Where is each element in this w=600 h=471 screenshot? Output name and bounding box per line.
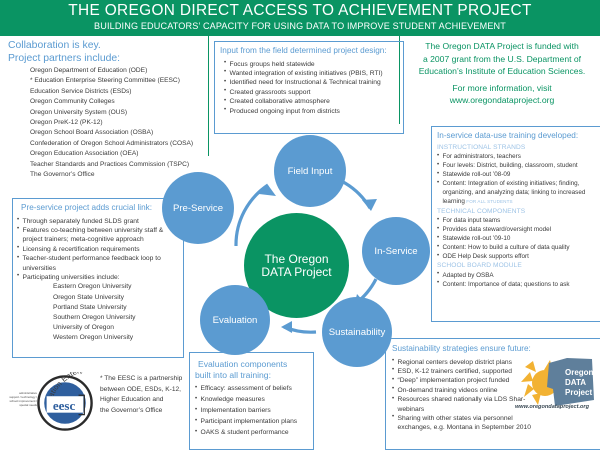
pre-service-heading: Pre-service project adds crucial link:: [21, 203, 183, 214]
in-service-strand-list: For data input teamsProvides data stewar…: [437, 216, 600, 261]
pre-service-item: Participating universities include:: [17, 273, 183, 282]
in-service-item: Statewide roll-out ’09-10: [437, 234, 600, 243]
field-input-item: Focus groups held statewide: [224, 60, 403, 69]
funding-line2: a 2007 grant from the U.S. Department of: [404, 53, 600, 66]
sustainability-list: Regional centers develop district plansE…: [392, 358, 532, 433]
evaluation-item: Implementation barriers: [195, 405, 313, 416]
sustainability-item: “Deep” implementation project funded: [392, 376, 532, 385]
partner-list-item: Teacher Standards and Practices Commissi…: [30, 160, 193, 170]
odp-logo-line1: Oregon: [565, 368, 594, 377]
evaluation-item: OAKS & student performance: [195, 427, 313, 438]
in-service-item: Provides data steward/oversight model: [437, 225, 600, 234]
evaluation-item: Efficacy: assessment of beliefs: [195, 383, 313, 394]
partner-list-item: The Governor’s Office: [30, 170, 193, 180]
collaboration-heading-line1: Collaboration is key.: [8, 40, 120, 53]
field-input-item: Identified need for Instructional & Tech…: [224, 78, 403, 87]
cycle-node-sustainability-label: Sustainability: [329, 326, 386, 339]
evaluation-heading-line2: built into all training:: [195, 370, 313, 381]
partner-list-item: Education Service Districts (ESDs): [30, 87, 193, 97]
evaluation-item: Knowledge measures: [195, 394, 313, 405]
funding-line3: Education’s Institute of Education Scien…: [404, 65, 600, 78]
in-service-item: For administrators, teachers: [437, 152, 600, 161]
partner-list: Oregon Department of Education (ODE)* Ed…: [30, 66, 193, 180]
funding-line1: The Oregon DATA Project is funded with: [404, 40, 600, 53]
partner-list-item: Oregon Education Association (OEA): [30, 149, 193, 159]
in-service-item: ODE Help Desk supports effort: [437, 252, 600, 261]
in-service-item: Content: How to build a culture of data …: [437, 243, 600, 252]
cycle-node-pre-service-label: Pre-Service: [173, 202, 223, 215]
partner-list-item: Oregon Department of Education (ODE): [30, 66, 193, 76]
sustainability-item: On-demand training videos online: [392, 386, 532, 395]
evaluation-list: Efficacy: assessment of beliefsKnowledge…: [195, 383, 313, 438]
in-service-item: Content: Integration of existing initiat…: [437, 179, 600, 207]
eesc-note: * The EESC is a partnership between ODE,…: [100, 374, 205, 416]
in-service-strand-label: INSTRUCTIONAL STRANDS: [437, 143, 600, 153]
odp-logo-line2: DATA: [565, 378, 586, 387]
eesc-note-line2: between ODE, ESDs, K-12,: [100, 385, 205, 396]
pre-service-item: Through separately funded SLDS grant: [17, 217, 183, 226]
cycle-center-line1: The Oregon: [261, 253, 331, 266]
sustainability-item: Sharing with other states via personnel …: [392, 414, 532, 433]
field-input-item: Created collaborative atmosphere: [224, 97, 403, 106]
in-service-item: Statewide roll-out ’08-09: [437, 170, 600, 179]
pre-service-university-item: University of Oregon: [53, 323, 183, 333]
eesc-note-line1: * The EESC is a partnership: [100, 374, 205, 385]
partner-list-item: Oregon University System (OUS): [30, 108, 193, 118]
field-input-list: Focus groups held statewideWanted integr…: [224, 60, 403, 116]
pre-service-box: Pre-service project adds crucial link: T…: [12, 198, 184, 358]
eesc-note-line4: the Governor’s Office: [100, 406, 205, 417]
in-service-strand-list: Adapted by OSBAContent: Importance of da…: [437, 271, 600, 289]
sustainability-item: ESD, K-12 trainers certified, supported: [392, 367, 532, 376]
eesc-note-line3: Higher Education and: [100, 395, 205, 406]
pre-service-university-item: Southern Oregon University: [53, 313, 183, 323]
eesc-logo: eesc: [36, 374, 94, 432]
eesc-acronym: eesc: [53, 398, 76, 413]
odp-logo-line3: Project: [565, 388, 592, 397]
field-input-heading: Input from the field determined project …: [220, 46, 403, 57]
pre-service-university-list: Eastern Oregon UniversityOregon State Un…: [53, 282, 183, 343]
cycle-node-evaluation-label: Evaluation: [213, 314, 258, 327]
funding-line4: For more information, visit: [404, 82, 600, 95]
cycle-node-sustainability[interactable]: Sustainability: [322, 297, 392, 367]
cycle-node-pre-service[interactable]: Pre-Service: [162, 172, 234, 244]
in-service-item: Content: Importance of data; questions t…: [437, 280, 600, 289]
in-service-strand-label: SCHOOL BOARD MODULE: [437, 261, 600, 271]
poster-header: THE OREGON DIRECT ACCESS TO ACHIEVEMENT …: [0, 0, 600, 36]
pre-service-item: Features co-teaching between university …: [17, 226, 183, 245]
evaluation-item: Participant implementation plans: [195, 416, 313, 427]
collaboration-heading-line2: Project partners include:: [8, 53, 120, 66]
in-service-item-suffix: FOR ALL STUDENTS: [465, 199, 513, 204]
evaluation-box: Evaluation components built into all tra…: [189, 352, 314, 450]
field-input-item: Created grassroots support: [224, 88, 403, 97]
odp-logo-url[interactable]: www.oregondataproject.org: [504, 404, 600, 410]
field-input-box: Input from the field determined project …: [214, 41, 404, 134]
field-input-item: Wanted integration of existing initiativ…: [224, 69, 403, 78]
pre-service-list: Through separately funded SLDS grantFeat…: [17, 217, 183, 283]
pre-service-university-item: Portland State University: [53, 303, 183, 313]
page-subtitle: BUILDING EDUCATORS’ CAPACITY FOR USING D…: [0, 20, 600, 32]
pre-service-item: Licensing & recertification requirements: [17, 245, 183, 254]
poster-root: THE OREGON DIRECT ACCESS TO ACHIEVEMENT …: [0, 0, 600, 471]
field-input-item: Produced ongoing input from districts: [224, 107, 403, 116]
cycle-node-field-input[interactable]: Field Input: [274, 135, 346, 207]
pre-service-university-item: Oregon State University: [53, 293, 183, 303]
collaboration-heading: Collaboration is key. Project partners i…: [8, 40, 120, 65]
partner-list-item: Oregon PreK-12 (PK-12): [30, 118, 193, 128]
in-service-strand-list: For administrators, teachersFour levels:…: [437, 152, 600, 207]
pre-service-item: Teacher-student performance feedback loo…: [17, 254, 183, 273]
in-service-item: Adapted by OSBA: [437, 271, 600, 280]
funding-statement: The Oregon DATA Project is funded with a…: [404, 40, 600, 107]
in-service-strand-label: TECHNICAL COMPONENTS: [437, 207, 600, 217]
in-service-sections: INSTRUCTIONAL STRANDSFor administrators,…: [437, 143, 600, 289]
in-service-box: In-service data-use training developed: …: [431, 126, 600, 322]
cycle-node-in-service-label: In-Service: [374, 245, 417, 258]
partner-list-item: * Education Enterprise Steering Committe…: [30, 76, 193, 86]
eesc-side-labels: administrative support / technology / sc…: [9, 392, 37, 408]
pre-service-university-item: Eastern Oregon University: [53, 282, 183, 292]
in-service-heading: In-service data-use training developed:: [437, 131, 600, 142]
pre-service-university-item: Western Oregon University: [53, 333, 183, 343]
in-service-item: For data input teams: [437, 216, 600, 225]
cycle-node-evaluation[interactable]: Evaluation: [200, 285, 270, 355]
cycle-center-line2: DATA Project: [261, 266, 331, 279]
page-title: THE OREGON DIRECT ACCESS TO ACHIEVEMENT …: [0, 2, 600, 20]
partner-list-item: Confederation of Oregon School Administr…: [30, 139, 193, 149]
in-service-item: Four levels: District, building, classro…: [437, 161, 600, 170]
partner-list-item: Oregon Community Colleges: [30, 97, 193, 107]
project-website-link[interactable]: www.oregondataproject.org: [404, 94, 600, 107]
cycle-node-field-input-label: Field Input: [288, 165, 333, 178]
cycle-node-in-service[interactable]: In-Service: [362, 217, 430, 285]
partner-list-item: Oregon School Board Association (OSBA): [30, 128, 193, 138]
